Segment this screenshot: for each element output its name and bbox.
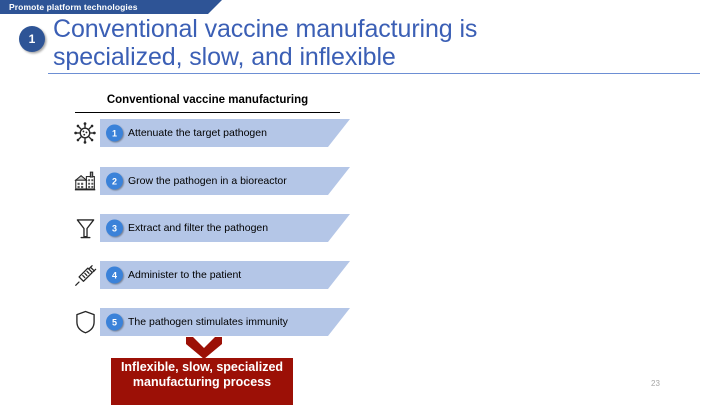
flow-step-label: Grow the pathogen in a bioreactor (128, 175, 287, 187)
flow-heading: Conventional vaccine manufacturing (75, 93, 340, 107)
flow-step-number: 3 (106, 220, 123, 237)
page-title: Conventional vaccine manufacturing is sp… (53, 15, 613, 71)
flow-step-label: Attenuate the target pathogen (128, 127, 267, 139)
flow-step-2[interactable]: 2 Grow the pathogen in a bioreactor (70, 166, 350, 196)
chevron-down-icon (186, 337, 222, 359)
flow-step-4[interactable]: 4 Administer to the patient (70, 260, 350, 290)
flow-step-number: 2 (106, 173, 123, 190)
shield-icon (70, 308, 100, 336)
virus-icon (70, 119, 100, 147)
flow-step-5[interactable]: 5 The pathogen stimulates immunity (70, 307, 350, 337)
flow-step-arrow: 4 Administer to the patient (100, 261, 350, 289)
flow-step-number: 4 (106, 267, 123, 284)
flow-step-1[interactable]: 1 Attenuate the target pathogen (70, 118, 350, 148)
title-number-badge: 1 (19, 26, 45, 52)
flow-step-label: Extract and filter the pathogen (128, 222, 268, 234)
syringe-icon (70, 261, 100, 289)
flow-step-arrow: 2 Grow the pathogen in a bioreactor (100, 167, 350, 195)
flow-heading-divider (75, 112, 340, 113)
flow-step-label: The pathogen stimulates immunity (128, 316, 288, 328)
funnel-icon (70, 214, 100, 242)
ribbon-label: Promote platform technologies (9, 2, 138, 12)
flow-step-arrow: 5 The pathogen stimulates immunity (100, 308, 350, 336)
flow-step-label: Administer to the patient (128, 269, 241, 281)
callout-box: Inflexible, slow, specialized manufactur… (111, 358, 293, 405)
factory-icon (70, 167, 100, 195)
flow-step-3[interactable]: 3 Extract and filter the pathogen (70, 213, 350, 243)
flow-step-arrow: 3 Extract and filter the pathogen (100, 214, 350, 242)
section-ribbon: Promote platform technologies (0, 0, 208, 14)
flow-step-number: 5 (106, 314, 123, 331)
page-number: 23 (651, 379, 660, 388)
flow-step-number: 1 (106, 125, 123, 142)
flow-step-arrow: 1 Attenuate the target pathogen (100, 119, 350, 147)
title-divider (48, 73, 700, 74)
